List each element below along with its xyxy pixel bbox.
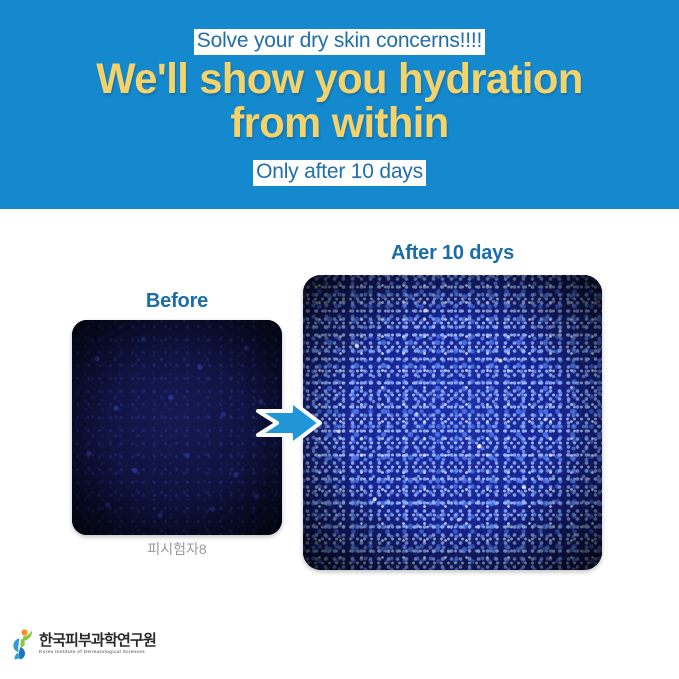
before-caption: 피시험자8: [72, 539, 282, 559]
after-image-vignette: [303, 275, 602, 570]
after-microscopy-image: [303, 275, 602, 570]
headline-line-1: We'll show you hydration: [10, 58, 669, 102]
page-title: We'll show you hydration from within: [10, 58, 669, 146]
after-label: After 10 days: [303, 242, 602, 265]
logo-text-block: 한국피부과학연구원 Korea Institute of Dermatologi…: [39, 633, 156, 655]
comparison-section: Before 피시험자8 After 10 days: [0, 209, 679, 679]
promotional-poster: Solve your dry skin concerns!!!! We'll s…: [0, 0, 679, 679]
logo-korean-name: 한국피부과학연구원: [39, 633, 156, 649]
human-figure-logo-icon: [10, 628, 34, 660]
header-banner: Solve your dry skin concerns!!!! We'll s…: [0, 0, 679, 209]
headline-line-2: from within: [10, 102, 669, 146]
arrow-right-icon: [255, 397, 323, 449]
tagline-top: Solve your dry skin concerns!!!!: [0, 29, 679, 55]
before-microscopy-image: [72, 320, 282, 535]
tagline-top-text: Solve your dry skin concerns!!!!: [194, 29, 485, 55]
before-label: Before: [72, 290, 282, 313]
logo-english-name: Korea Institute of Dermatological Scienc…: [39, 649, 158, 655]
tagline-bottom-text: Only after 10 days: [253, 160, 426, 186]
tagline-bottom: Only after 10 days: [0, 160, 679, 186]
institute-logo: 한국피부과학연구원 Korea Institute of Dermatologi…: [10, 628, 156, 660]
before-image-vignette: [72, 320, 282, 535]
